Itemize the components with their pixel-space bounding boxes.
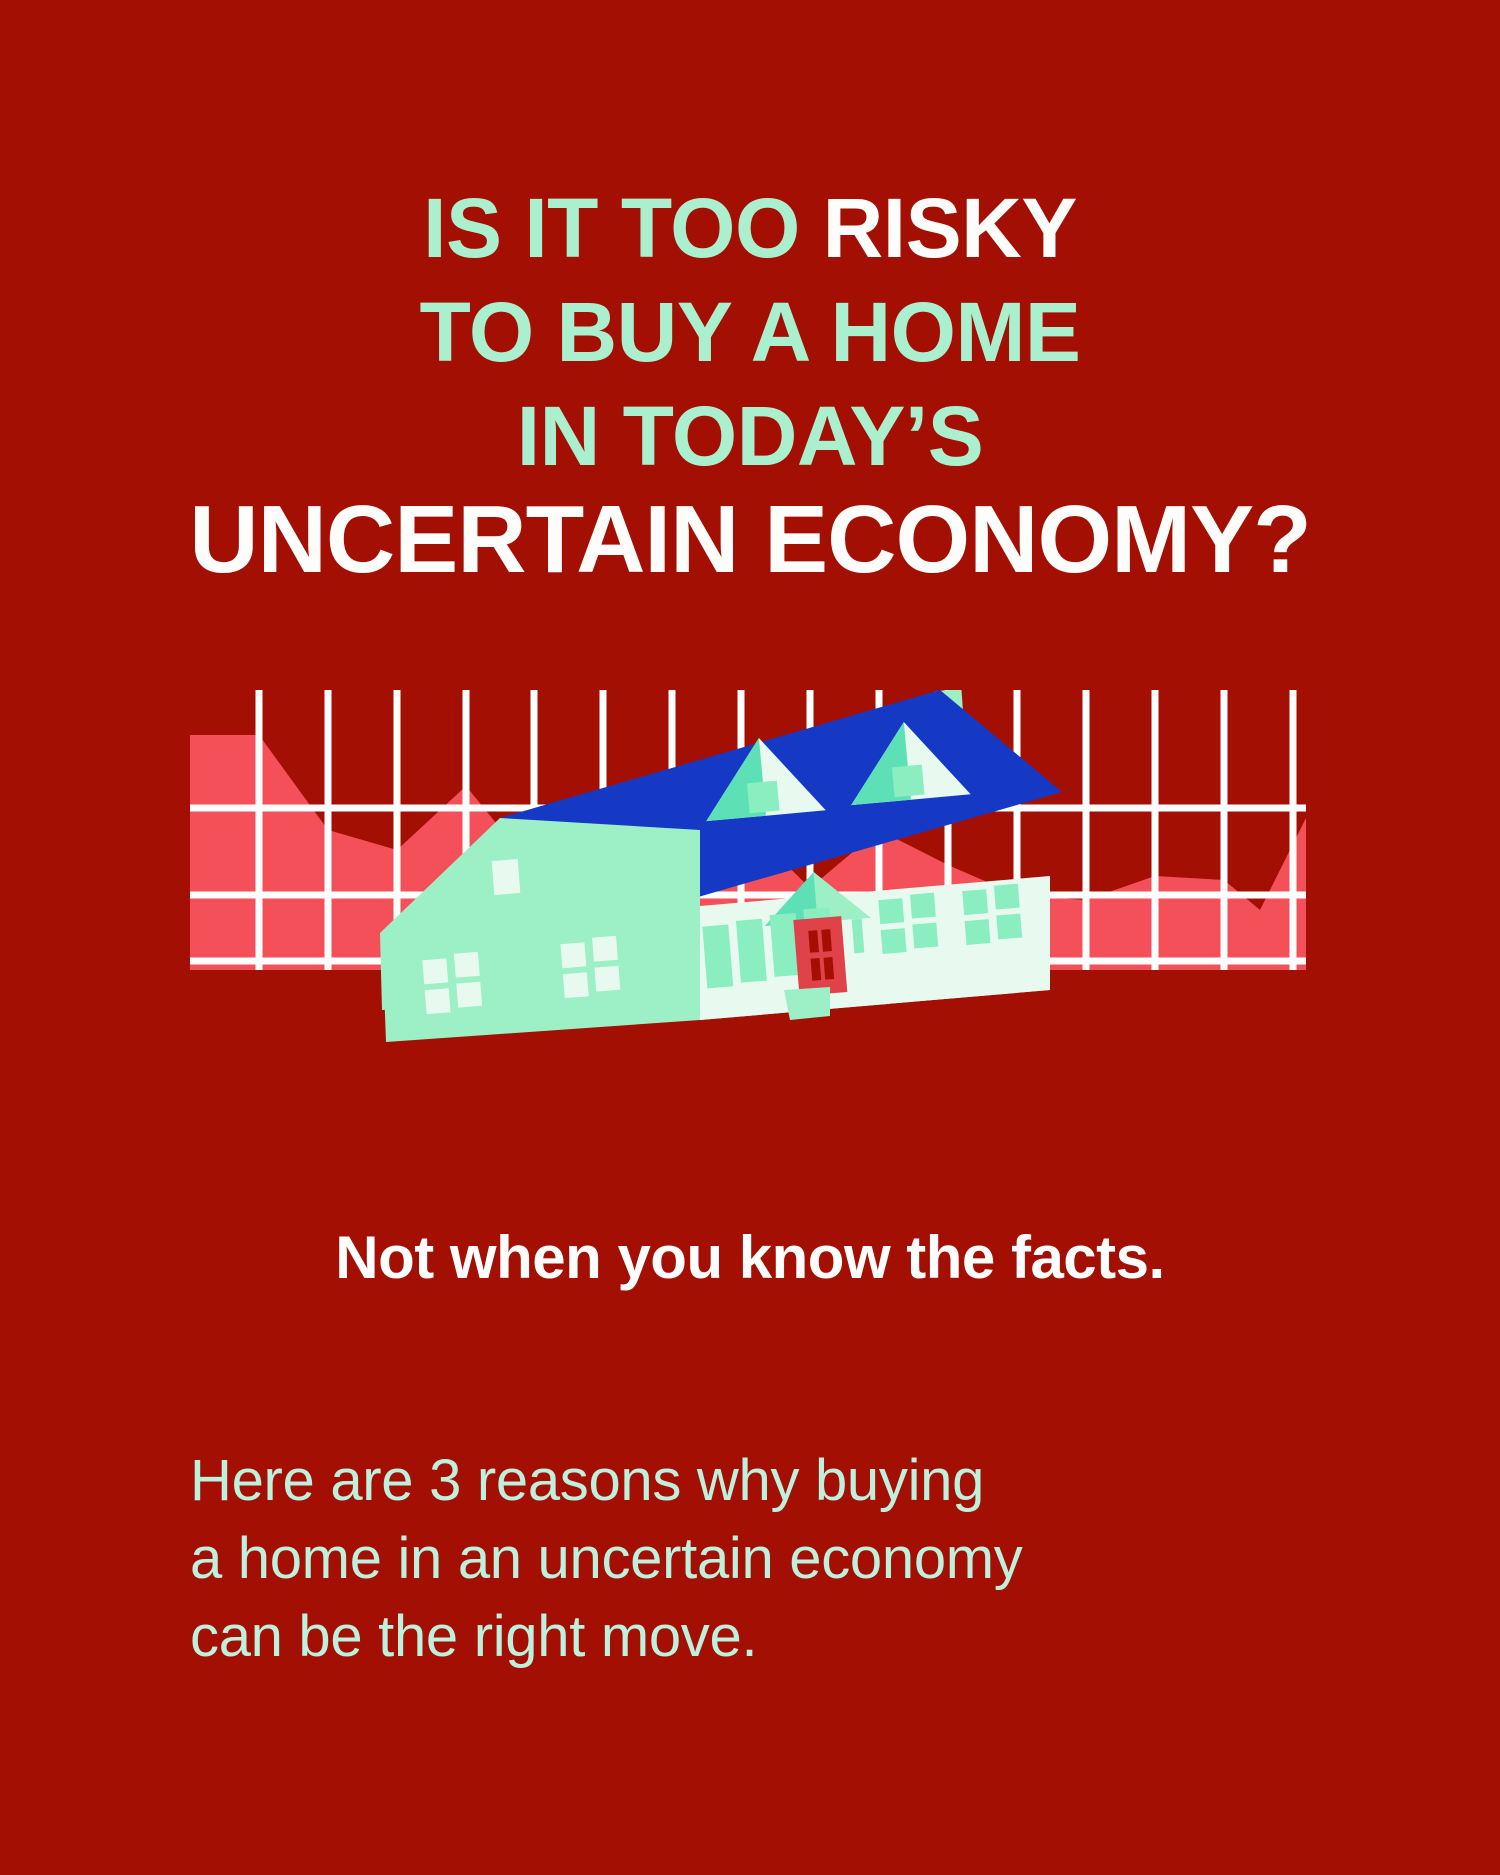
headline-line-2: TO BUY A HOME <box>0 280 1500 384</box>
headline-line-3: IN TODAY’S <box>0 384 1500 488</box>
dormer-left-window <box>747 781 780 814</box>
headline-line-1-white: RISKY <box>823 181 1077 275</box>
dormer-right-window <box>892 765 925 798</box>
headline-line-1-mint: IS IT TOO <box>423 181 823 275</box>
poster-root: IS IT TOO RISKY TO BUY A HOME IN TODAY’S… <box>0 0 1500 1875</box>
house-illustration <box>380 690 1062 1042</box>
door-light-4 <box>823 957 834 980</box>
headline-line-1: IS IT TOO RISKY <box>0 176 1500 280</box>
door-light-3 <box>811 958 822 981</box>
door-light-2 <box>821 929 832 952</box>
page-title: IS IT TOO RISKY TO BUY A HOME IN TODAY’S… <box>0 176 1500 592</box>
illustration-block <box>0 690 1500 1170</box>
gable-attic-window <box>492 859 521 895</box>
body-copy: Here are 3 reasons why buying a home in … <box>190 1442 1330 1676</box>
body-copy-line-3: can be the right move. <box>190 1598 1330 1676</box>
house-front-door <box>793 916 847 996</box>
headline-line-4: UNCERTAIN ECONOMY? <box>0 488 1500 592</box>
body-copy-line-1: Here are 3 reasons why buying <box>190 1442 1330 1520</box>
illustration-svg <box>0 690 1500 1170</box>
body-copy-line-2: a home in an uncertain economy <box>190 1520 1330 1598</box>
house-porch-step <box>784 987 830 1020</box>
door-light-1 <box>808 930 819 953</box>
door-panel <box>793 916 847 996</box>
subheadline: Not when you know the facts. <box>0 1222 1500 1294</box>
